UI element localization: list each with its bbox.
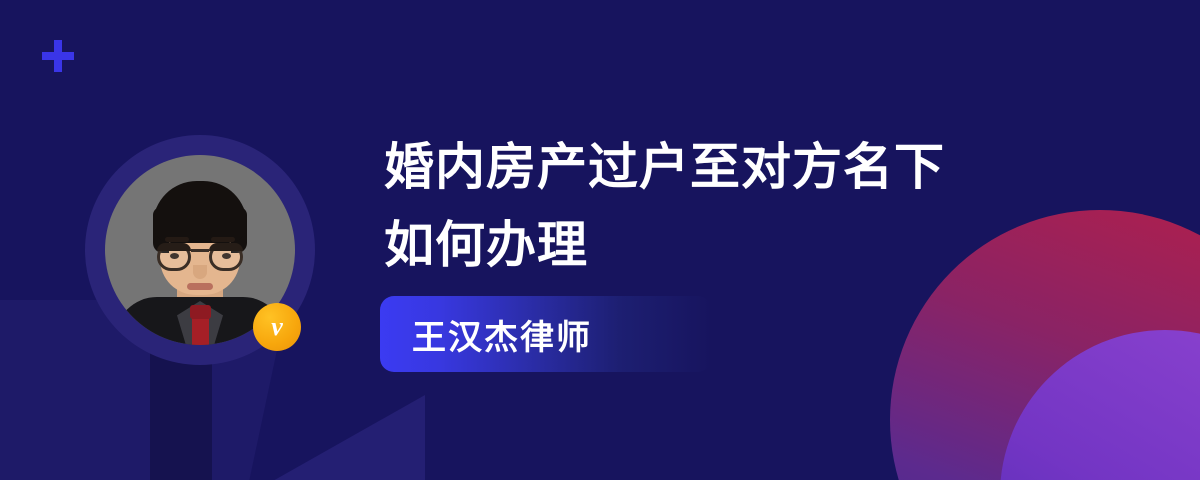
lawyer-promo-banner: v 婚内房产过户至对方名下 如何办理 王汉杰律师 [0, 0, 1200, 480]
page-title: 婚内房产过户至对方名下 如何办理 [384, 128, 1084, 284]
glasses-rim-right [209, 243, 243, 251]
verified-badge-icon: v [253, 303, 301, 351]
plus-icon [42, 40, 74, 72]
background-polygon-triangle [195, 395, 425, 480]
gradient-orb-accent [1000, 330, 1200, 480]
portrait-eyebrow-right [211, 237, 235, 242]
portrait-tie-knot [190, 305, 211, 319]
glasses-bridge [191, 249, 209, 252]
plus-icon-vertical-bar [54, 40, 62, 72]
portrait-hair [153, 181, 247, 243]
glasses-rim-left [157, 243, 191, 251]
verified-badge-glyph: v [271, 314, 283, 340]
portrait-eyebrow-left [165, 237, 189, 242]
portrait-mouth [187, 283, 213, 290]
portrait-nose [193, 265, 207, 279]
lawyer-name-button[interactable]: 王汉杰律师 [380, 296, 712, 372]
avatar[interactable]: v [85, 135, 315, 365]
